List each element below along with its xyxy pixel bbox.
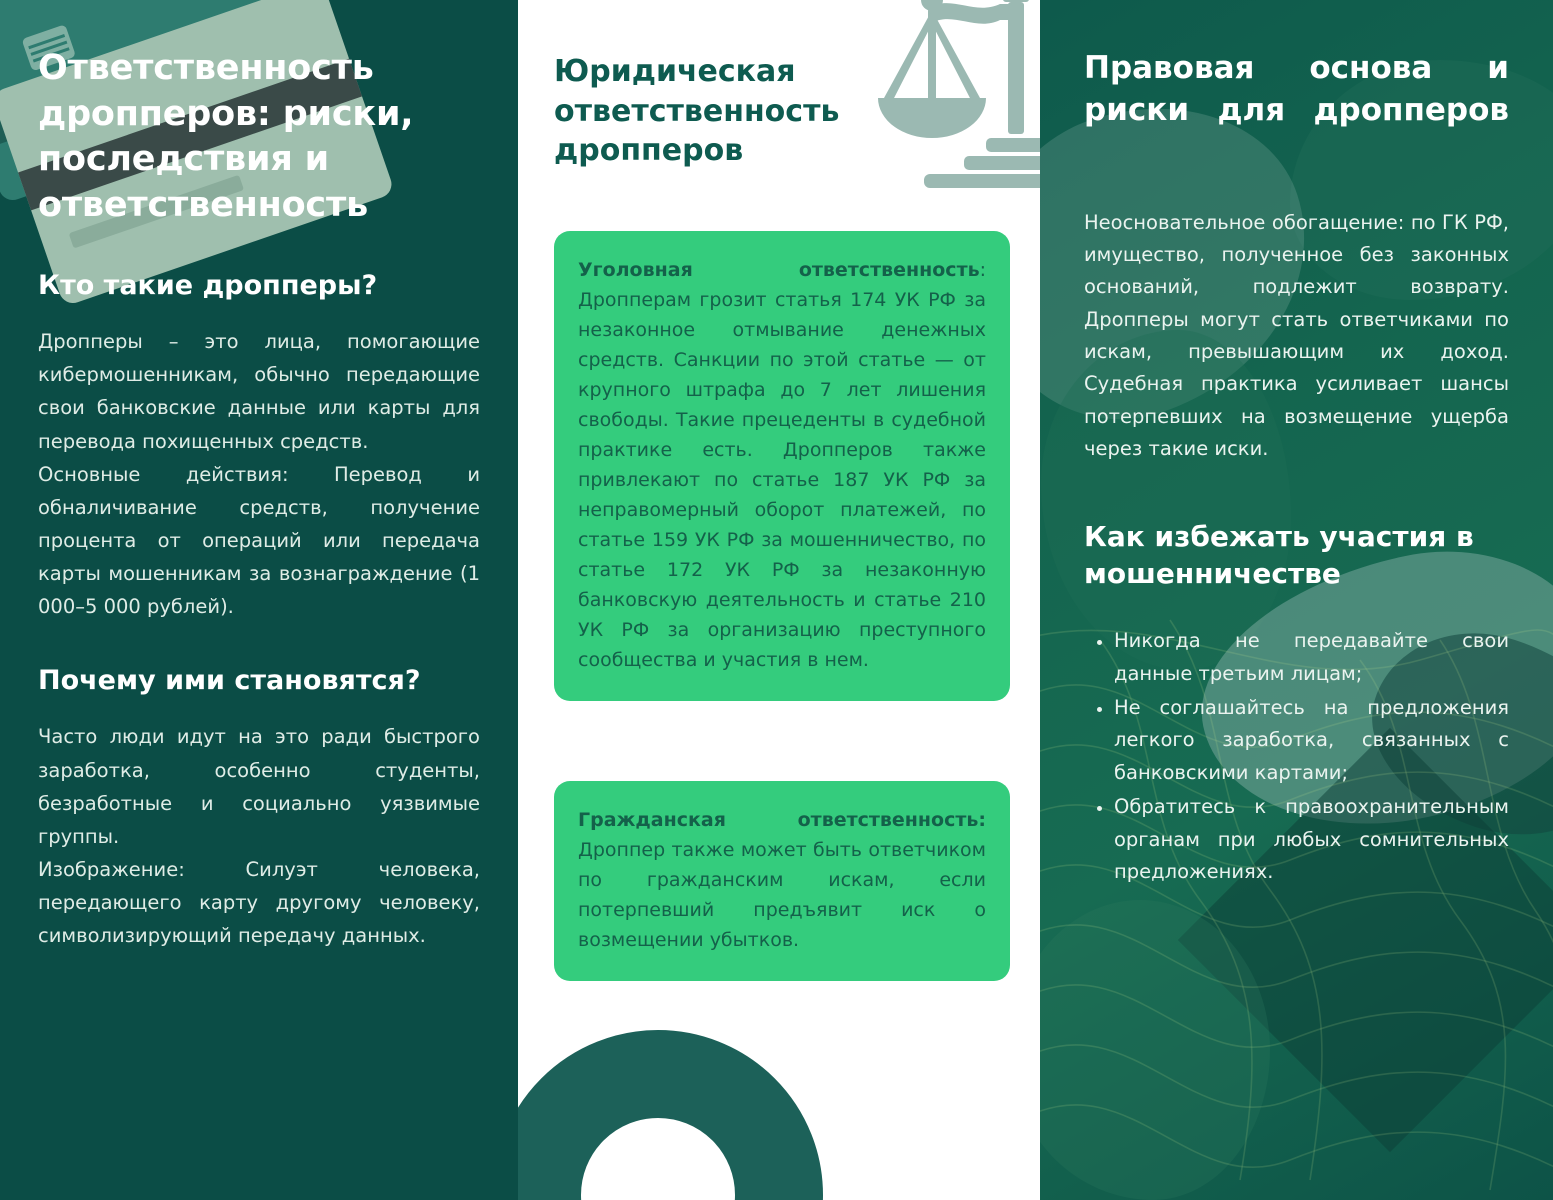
criminal-liability-text: Уголовная ответственность: Дропперам гро… <box>578 255 986 675</box>
brochure-page: Ответственность дропперов: риски, послед… <box>0 0 1553 1200</box>
right-panel: Правовая основа и риски для дропперов Не… <box>1040 0 1553 1200</box>
civil-liability-text: Гражданская ответственность: Дроппер так… <box>578 805 986 955</box>
left-panel-body-2: Часто люди идут на это ради быстрого зар… <box>38 720 480 952</box>
middle-panel-title: Юридическая ответственность дропперов <box>554 52 884 171</box>
list-item: Обратитесь к правоохранительным органам … <box>1114 791 1509 888</box>
paragraph: Изображение: Силуэт человека, передающег… <box>38 853 480 952</box>
civil-liability-lead: Гражданская ответственность: <box>578 809 986 831</box>
civil-liability-body: Дроппер также может быть ответчиком по г… <box>578 839 986 951</box>
left-panel-body-1: Дропперы – это лица, помогающие кибермош… <box>38 325 480 623</box>
left-panel-heading-who: Кто такие дропперы? <box>38 268 480 303</box>
civil-liability-card: Гражданская ответственность: Дроппер так… <box>554 781 1010 981</box>
left-panel: Ответственность дропперов: риски, послед… <box>0 0 518 1200</box>
right-panel-title: Правовая основа и риски для дропперов <box>1084 48 1509 173</box>
left-panel-heading-why: Почему ими становятся? <box>38 663 480 698</box>
paragraph: Дропперы – это лица, помогающие кибермош… <box>38 325 480 458</box>
prevention-tips-list: Никогда не передавайте свои данные треть… <box>1084 625 1509 888</box>
criminal-liability-lead-suffix: : <box>980 259 986 281</box>
criminal-liability-lead: Уголовная ответственность <box>578 259 980 281</box>
left-panel-title: Ответственность дропперов: риски, послед… <box>38 46 480 228</box>
middle-panel: Юридическая ответственность дропперов Уг… <box>518 0 1040 1200</box>
paragraph: Основные действия: Перевод и обналичиван… <box>38 458 480 624</box>
paragraph: Часто люди идут на это ради быстрого зар… <box>38 720 480 853</box>
criminal-liability-body: Дропперам грозит статья 174 УК РФ за нез… <box>578 289 986 671</box>
decorative-ring <box>518 1030 823 1200</box>
criminal-liability-card: Уголовная ответственность: Дропперам гро… <box>554 231 1010 701</box>
list-item: Никогда не передавайте свои данные треть… <box>1114 625 1509 690</box>
list-item: Не соглашайтесь на предложения легкого з… <box>1114 692 1509 789</box>
right-panel-heading-avoid: Как избежать участия в мошенничестве <box>1084 519 1509 593</box>
right-panel-body: Неосновательное обогащение: по ГК РФ, им… <box>1084 207 1509 466</box>
